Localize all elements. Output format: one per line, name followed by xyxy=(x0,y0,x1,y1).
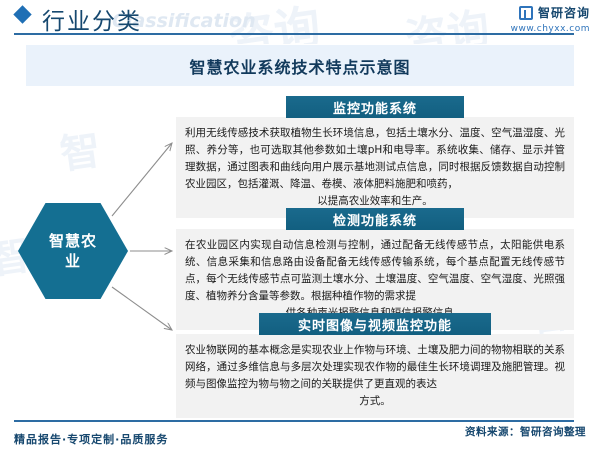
hexagon-node: 智慧农业 xyxy=(18,203,128,299)
feature-card-text: 利用无线传感技术获取植物生长环境信息，包括土壤水分、温度、空气温湿度、光照、养分… xyxy=(185,125,565,193)
brand-url: www.chyxx.com xyxy=(511,24,590,34)
feature-card-header: 监控功能系统 xyxy=(286,96,464,118)
feature-card-header: 检测功能系统 xyxy=(286,208,464,230)
feature-card-text-tail: 方式。 xyxy=(185,393,565,410)
watermark-text: 智 xyxy=(56,117,104,180)
feature-card: 实时图像与视频监控功能 农业物联网的基本概念是实现农业上作物与环境、土壤及肥力间… xyxy=(176,313,574,418)
feature-card: 检测功能系统 在农业园区内实现自动信息检测与控制，通过配备无线传感节点，太阳能供… xyxy=(176,208,574,330)
chart-title-banner: 智慧农业系统技术特点示意图 xyxy=(26,44,574,86)
feature-card: 监控功能系统 利用无线传感技术获取植物生长环境信息，包括土壤水分、温度、空气温湿… xyxy=(176,96,574,218)
diamond-icon xyxy=(13,5,31,23)
feature-card-text: 农业物联网的基本概念是实现农业上作物与环境、土壤及肥力间的物物相联的关系网络，通… xyxy=(185,342,565,393)
footer-source: 资料来源：智研咨询整理 xyxy=(465,424,586,439)
feature-card-header: 实时图像与视频监控功能 xyxy=(259,313,491,335)
feature-card-body: 农业物联网的基本概念是实现农业上作物与环境、土壤及肥力间的物物相联的关系网络，通… xyxy=(176,334,574,418)
footer-tagline: 精品报告·专项定制·品质服务 xyxy=(14,431,168,447)
chart-title: 智慧农业系统技术特点示意图 xyxy=(189,54,410,78)
brand-mark-icon xyxy=(519,6,533,20)
feature-card-text: 在农业园区内实现自动信息检测与控制，通过配备无线传感节点，太阳能供电系统、信息采… xyxy=(185,237,565,305)
brand-name: 智研咨询 xyxy=(538,4,590,21)
header-divider xyxy=(14,33,574,35)
hexagon-label: 智慧农业 xyxy=(42,231,104,272)
footer-divider xyxy=(14,420,574,422)
brand-logo: 智研咨询 www.chyxx.com xyxy=(511,4,590,34)
page-title: 行业分类 xyxy=(42,2,142,36)
feature-card-body: 利用无线传感技术获取植物生长环境信息，包括土壤水分、温度、空气温湿度、光照、养分… xyxy=(176,117,574,218)
